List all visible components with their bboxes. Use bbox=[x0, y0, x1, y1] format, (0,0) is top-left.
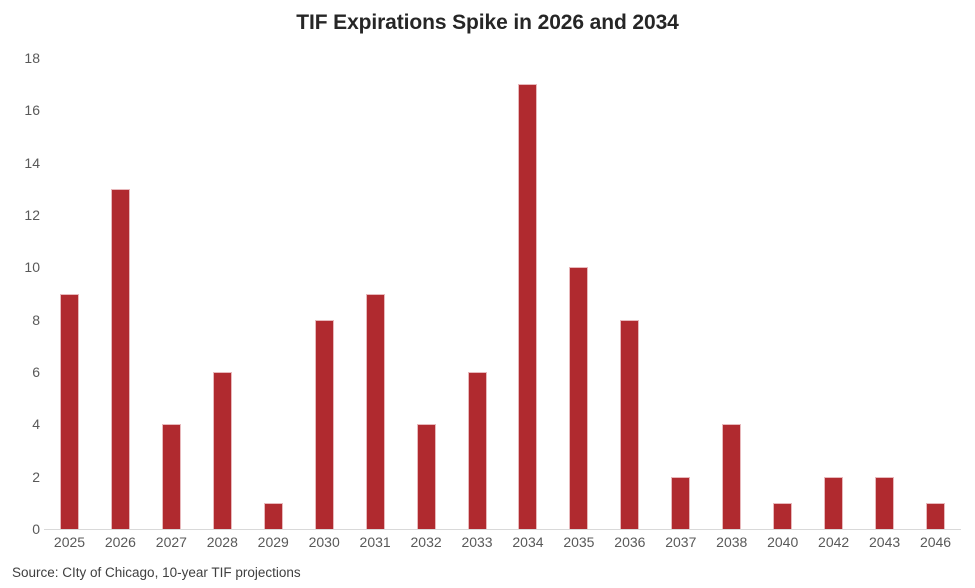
bar[interactable] bbox=[773, 503, 792, 529]
y-axis-tick-label: 12 bbox=[4, 207, 40, 223]
bar[interactable] bbox=[111, 189, 130, 529]
y-axis-tick-label: 6 bbox=[4, 364, 40, 380]
bar[interactable] bbox=[60, 294, 79, 530]
bar[interactable] bbox=[671, 477, 690, 529]
y-axis-tick-label: 4 bbox=[4, 416, 40, 432]
source-note: Source: CIty of Chicago, 10-year TIF pro… bbox=[12, 565, 301, 580]
bar[interactable] bbox=[315, 320, 334, 529]
bar[interactable] bbox=[569, 267, 588, 529]
chart-container: TIF Expirations Spike in 2026 and 2034 1… bbox=[0, 0, 975, 588]
chart-title: TIF Expirations Spike in 2026 and 2034 bbox=[0, 11, 975, 35]
bar[interactable] bbox=[875, 477, 894, 529]
bar[interactable] bbox=[264, 503, 283, 529]
y-axis-tick-label: 16 bbox=[4, 102, 40, 118]
y-axis-tick-label: 10 bbox=[4, 259, 40, 275]
y-axis-tick-label: 14 bbox=[4, 155, 40, 171]
bar[interactable] bbox=[162, 424, 181, 529]
x-axis: 2025202620272028202920302031203220332034… bbox=[44, 534, 961, 554]
bar[interactable] bbox=[620, 320, 639, 529]
bar[interactable] bbox=[518, 84, 537, 529]
bar-series bbox=[44, 58, 961, 529]
y-axis-tick-label: 18 bbox=[4, 50, 40, 66]
bar[interactable] bbox=[213, 372, 232, 529]
y-axis: 181614121086420 bbox=[0, 58, 40, 530]
bar[interactable] bbox=[824, 477, 843, 529]
y-axis-tick-label: 2 bbox=[4, 469, 40, 485]
x-axis-tick-label: 2046 bbox=[906, 534, 966, 550]
y-axis-tick-label: 0 bbox=[4, 521, 40, 537]
bar[interactable] bbox=[366, 294, 385, 530]
x-axis-baseline bbox=[44, 529, 961, 530]
bar[interactable] bbox=[468, 372, 487, 529]
bar[interactable] bbox=[417, 424, 436, 529]
y-axis-tick-label: 8 bbox=[4, 312, 40, 328]
bar[interactable] bbox=[926, 503, 945, 529]
bar[interactable] bbox=[722, 424, 741, 529]
